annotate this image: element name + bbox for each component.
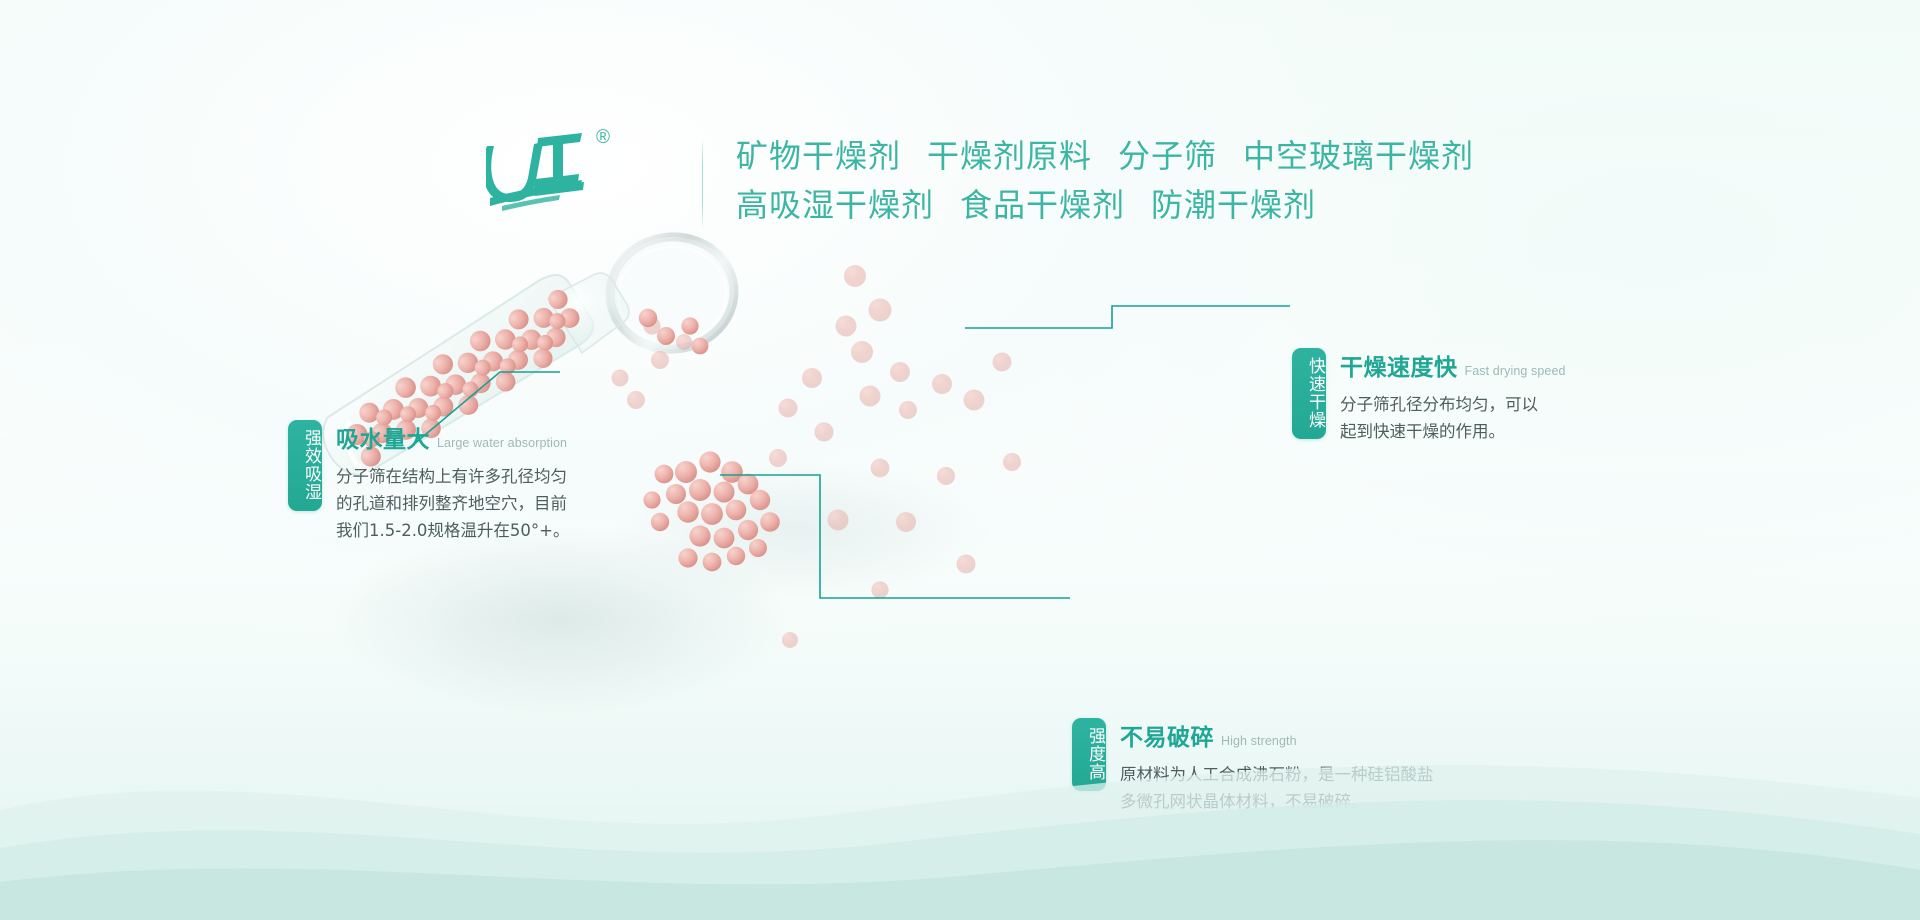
yaao-logo[interactable] <box>486 126 596 212</box>
annotation-title: 干燥速度快 <box>1340 348 1458 382</box>
annotation-heading: 干燥速度快 Fast drying speed <box>1340 348 1566 382</box>
annotation-high-strength: 强度高 不易破碎 High strength 原材料为人工合成沸石粉，是一种硅铝… <box>1072 718 1434 815</box>
annotation-large-water-absorption: 强效吸湿 吸水量大 Large water absorption 分子筛在结构上… <box>288 420 570 544</box>
annotation-title: 不易破碎 <box>1120 718 1214 752</box>
nav-item-mineral-desiccant[interactable]: 矿物干燥剂 <box>736 137 901 175</box>
annotation-fast-drying-speed: 快速干燥 干燥速度快 Fast drying speed 分子筛孔径分布均匀，可… <box>1292 348 1566 445</box>
header-nav-line-2: 高吸湿干燥剂食品干燥剂防潮干燥剂 <box>736 181 1474 230</box>
nav-item-molecular-sieve[interactable]: 分子筛 <box>1118 137 1217 175</box>
annotation-heading: 不易破碎 High strength <box>1120 718 1434 752</box>
badge-fast-drying: 快速干燥 <box>1292 348 1326 439</box>
page-header: ® 矿物干燥剂干燥剂原料分子筛中空玻璃干燥剂 高吸湿干燥剂食品干燥剂防潮干燥剂 <box>0 0 1920 250</box>
banner-stage: ® 矿物干燥剂干燥剂原料分子筛中空玻璃干燥剂 高吸湿干燥剂食品干燥剂防潮干燥剂 … <box>0 0 1920 920</box>
header-nav-line-1: 矿物干燥剂干燥剂原料分子筛中空玻璃干燥剂 <box>736 132 1474 181</box>
annotation-body: 吸水量大 Large water absorption 分子筛在结构上有许多孔径… <box>336 420 570 544</box>
annotation-text: 分子筛在结构上有许多孔径均匀 的孔道和排列整齐地空穴，目前 我们1.5-2.0规… <box>336 463 570 544</box>
registered-trademark-icon: ® <box>596 128 610 147</box>
annotation-subtitle: High strength <box>1221 734 1297 748</box>
annotation-text: 原材料为人工合成沸石粉，是一种硅铝酸盐 多微孔网状晶体材料，不易破碎。 <box>1120 761 1434 815</box>
annotation-heading: 吸水量大 Large water absorption <box>336 420 570 454</box>
annotation-title: 吸水量大 <box>336 420 430 454</box>
annotation-body: 干燥速度快 Fast drying speed 分子筛孔径分布均匀，可以 起到快… <box>1340 348 1566 445</box>
badge-high-strength: 强度高 <box>1072 718 1106 791</box>
nav-item-insulating-glass-desiccant[interactable]: 中空玻璃干燥剂 <box>1243 137 1474 175</box>
nav-item-high-moisture-absorbing-desiccant[interactable]: 高吸湿干燥剂 <box>736 186 934 224</box>
nav-item-desiccant-raw-material[interactable]: 干燥剂原料 <box>927 137 1092 175</box>
logo-mark <box>486 126 596 212</box>
nav-item-moisture-proof-desiccant[interactable]: 防潮干燥剂 <box>1151 186 1316 224</box>
annotation-body: 不易破碎 High strength 原材料为人工合成沸石粉，是一种硅铝酸盐 多… <box>1120 718 1434 815</box>
annotation-subtitle: Large water absorption <box>437 436 567 450</box>
nav-item-food-desiccant[interactable]: 食品干燥剂 <box>960 186 1125 224</box>
photo-svg <box>0 200 1920 900</box>
annotation-subtitle: Fast drying speed <box>1465 364 1566 378</box>
annotation-text: 分子筛孔径分布均匀，可以 起到快速干燥的作用。 <box>1340 391 1566 445</box>
product-photo <box>0 200 1920 900</box>
header-nav: 矿物干燥剂干燥剂原料分子筛中空玻璃干燥剂 高吸湿干燥剂食品干燥剂防潮干燥剂 <box>736 132 1474 230</box>
header-divider <box>702 140 703 228</box>
badge-strong-moisture-absorption: 强效吸湿 <box>288 420 322 511</box>
